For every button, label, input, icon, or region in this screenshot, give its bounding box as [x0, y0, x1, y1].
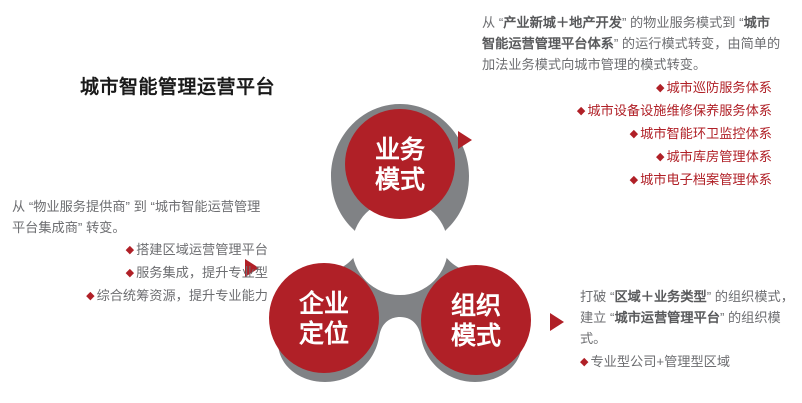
- list-item-label: 城市电子档案管理体系: [640, 172, 772, 187]
- left-bullet-list: ◆搭建区域运营管理平台 ◆服务集成，提升专业型 ◆综合统筹资源，提升专业能力: [12, 239, 270, 308]
- tr-p1: 从 “: [482, 15, 503, 30]
- list-item: ◆搭建区域运营管理平台: [12, 239, 268, 262]
- page-title: 城市智能管理运营平台: [80, 72, 275, 99]
- diamond-bullet-icon: ◆: [630, 174, 638, 186]
- list-item: ◆城市巡防服务体系: [482, 77, 772, 100]
- list-item-label: 服务集成，提升专业型: [136, 265, 268, 280]
- arrow-to-top-right-icon: [458, 131, 472, 149]
- list-item-label: 城市巡防服务体系: [667, 80, 773, 95]
- list-item-label: 综合统筹资源，提升专业能力: [97, 288, 268, 303]
- node-organization-model[interactable]: 组织 模式: [421, 265, 531, 375]
- list-item: ◆综合统筹资源，提升专业能力: [12, 285, 268, 308]
- diamond-bullet-icon: ◆: [630, 128, 638, 140]
- list-item: ◆服务集成，提升专业型: [12, 262, 268, 285]
- diamond-bullet-icon: ◆: [86, 290, 94, 302]
- arrow-to-bottom-right-icon: [550, 313, 564, 331]
- bottom-right-text-block: 打破 “区域＋业务类型” 的组织模式，建立 “城市运营管理平台” 的组织模式。 …: [580, 286, 795, 374]
- br-b2: 城市运营管理平台: [614, 310, 720, 325]
- list-item: ◆城市设备设施维修保养服务体系: [482, 100, 772, 123]
- top-right-bullet-list: ◆城市巡防服务体系 ◆城市设备设施维修保养服务体系 ◆城市智能环卫监控体系 ◆城…: [482, 77, 782, 192]
- diamond-bullet-icon: ◆: [577, 105, 585, 117]
- node-circle-enterprise: [269, 263, 379, 373]
- node-circle-business: [345, 109, 455, 219]
- diamond-bullet-icon: ◆: [126, 267, 134, 279]
- top-right-text-block: 从 “产业新城＋地产开发” 的物业服务模式到 “城市智能运营管理平台体系” 的运…: [482, 12, 782, 192]
- list-item: ◆专业型公司+管理型区域: [580, 351, 795, 374]
- diagram-page: 城市智能管理运营平台 业务 模式 企业 定位: [0, 0, 802, 403]
- tr-b1: 产业新城＋地产开发: [503, 15, 622, 30]
- node-label-organization-line1: 组织: [451, 291, 501, 320]
- list-item-label: 专业型公司+管理型区域: [590, 354, 730, 369]
- left-text-block: 从 “物业服务提供商” 到 “城市智能运营管理平台集成商” 转变。 ◆搭建区域运…: [12, 196, 270, 308]
- node-circle-organization: [421, 265, 531, 375]
- list-item: ◆城市智能环卫监控体系: [482, 123, 772, 146]
- bottom-right-bullet-list: ◆专业型公司+管理型区域: [580, 351, 795, 374]
- list-item: ◆城市电子档案管理体系: [482, 169, 772, 192]
- diamond-bullet-icon: ◆: [656, 151, 664, 163]
- left-paragraph: 从 “物业服务提供商” 到 “城市智能运营管理平台集成商” 转变。: [12, 196, 270, 238]
- diamond-bullet-icon: ◆: [126, 244, 134, 256]
- top-right-paragraph: 从 “产业新城＋地产开发” 的物业服务模式到 “城市智能运营管理平台体系” 的运…: [482, 12, 782, 75]
- tr-p2: ” 的物业服务模式到 “: [622, 15, 744, 30]
- node-label-business-line1: 业务: [375, 136, 425, 164]
- list-item-label: 城市设备设施维修保养服务体系: [587, 103, 772, 118]
- list-item: ◆城市库房管理体系: [482, 146, 772, 169]
- node-label-enterprise-line1: 企业: [299, 289, 349, 318]
- list-item-label: 城市库房管理体系: [667, 149, 773, 164]
- diamond-bullet-icon: ◆: [580, 356, 588, 368]
- br-b1: 区域＋业务类型: [614, 289, 706, 304]
- br-p1: 打破 “: [580, 289, 614, 304]
- diamond-bullet-icon: ◆: [656, 82, 664, 94]
- list-item-label: 搭建区域运营管理平台: [136, 242, 268, 257]
- node-enterprise-positioning[interactable]: 企业 定位: [269, 263, 379, 373]
- list-item-label: 城市智能环卫监控体系: [640, 126, 772, 141]
- node-business-model[interactable]: 业务 模式: [345, 109, 455, 219]
- node-label-organization-line2: 模式: [451, 321, 501, 350]
- node-label-enterprise-line2: 定位: [299, 319, 349, 348]
- node-label-business-line2: 模式: [375, 165, 425, 194]
- bottom-right-paragraph: 打破 “区域＋业务类型” 的组织模式，建立 “城市运营管理平台” 的组织模式。: [580, 286, 795, 349]
